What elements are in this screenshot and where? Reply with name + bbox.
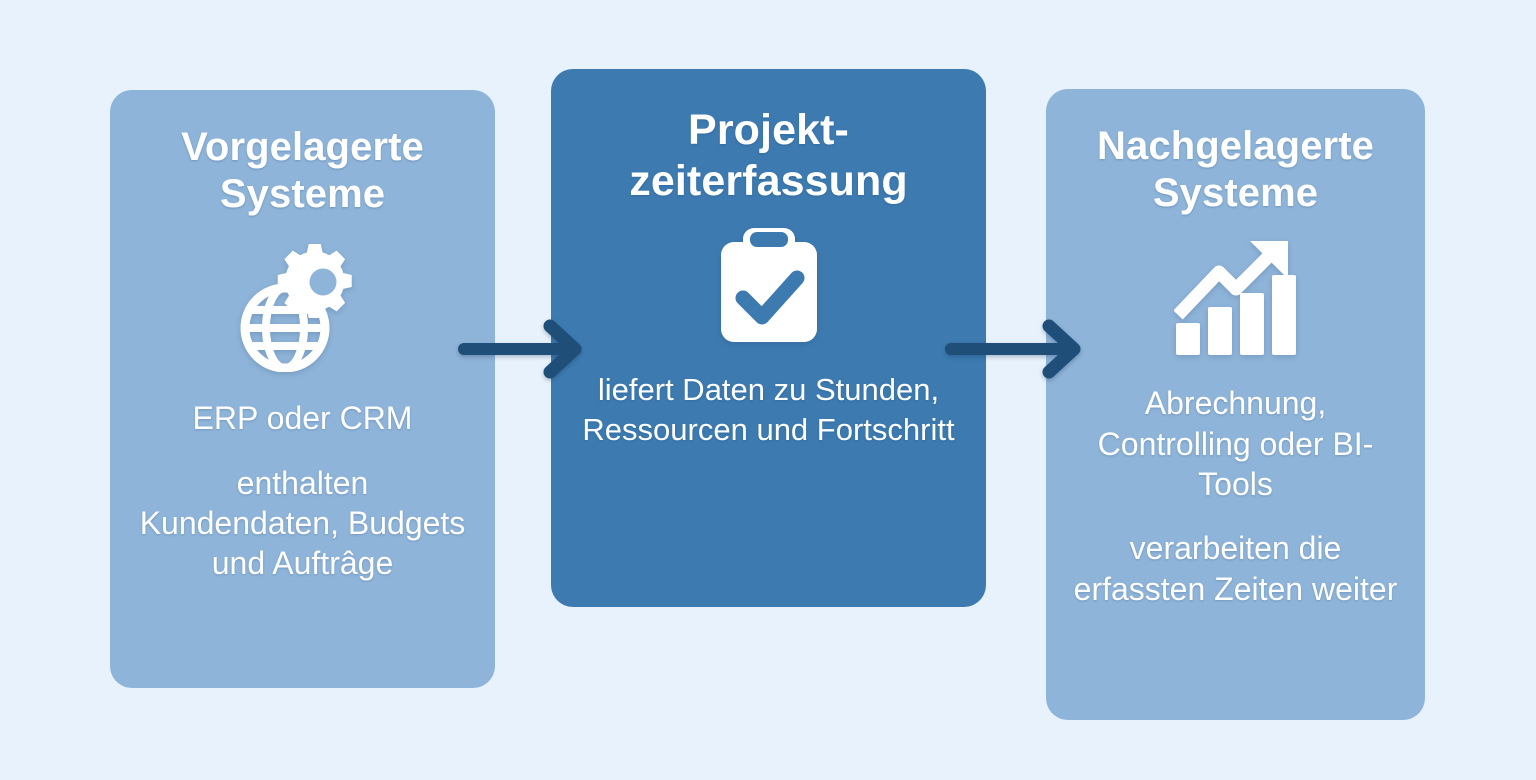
stage-body-core: liefert Daten zu Stunden, Ressourcen und… <box>573 370 964 448</box>
stage-title-line: Vorgelagerte <box>181 124 424 171</box>
stage-card-core[interactable]: Projekt- zeiterfassung liefert Daten zu … <box>551 69 986 607</box>
stage-body-upstream: ERP oder CRM enthalten Kundendaten, Budg… <box>136 398 469 583</box>
stage-title-line: Nachgelagerte <box>1097 123 1374 170</box>
arrow-right-icon-core-to-downstream <box>945 318 1087 380</box>
stage-title-line: Systeme <box>1097 170 1374 217</box>
stage-title-line: Systeme <box>181 171 424 218</box>
stage-card-upstream[interactable]: Vorgelagerte Systeme ERP oder CRM enthal… <box>110 90 495 688</box>
stage-body-downstream: Abrechnung, Controlling oder BI-Tools ve… <box>1068 383 1403 609</box>
stage-title-core: Projekt- zeiterfassung <box>629 105 908 206</box>
arrow-right-icon-upstream-to-core <box>458 318 588 380</box>
clipboard-check-icon <box>717 228 821 344</box>
stage-card-downstream[interactable]: Nachgelagerte Systeme Abrechnung, Contro… <box>1046 89 1425 720</box>
stage-body-line: Abrechnung, Controlling oder BI-Tools <box>1068 383 1403 504</box>
stage-body-line: ERP oder CRM <box>136 398 469 438</box>
stage-title-line: zeiterfassung <box>629 156 908 207</box>
stage-body-line: liefert Daten zu Stunden, Ressourcen und… <box>573 370 964 448</box>
stage-body-line: verarbeiten die erfassten Zeiten weiter <box>1068 528 1403 609</box>
stage-title-downstream: Nachgelagerte Systeme <box>1097 123 1374 217</box>
stage-body-line: enthalten Kundendaten, Budgets und Auftr… <box>136 463 469 584</box>
bar-chart-growth-icon <box>1174 239 1298 357</box>
diagram-canvas: Vorgelagerte Systeme ERP oder CRM enthal… <box>0 0 1536 780</box>
globe-gear-icon <box>239 240 367 372</box>
stage-title-line: Projekt- <box>629 105 908 156</box>
stage-title-upstream: Vorgelagerte Systeme <box>181 124 424 218</box>
